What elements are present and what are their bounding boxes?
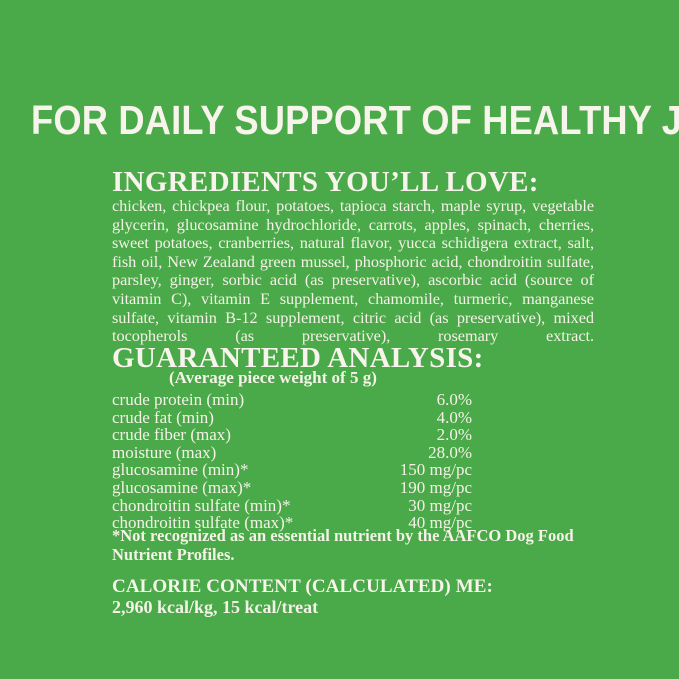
ingredients-list-text: chicken, chickpea flour, potatoes, tapio…	[112, 197, 594, 364]
ingredients-section: chicken, chickpea flour, potatoes, tapio…	[112, 197, 594, 364]
calorie-content-section: CALORIE CONTENT (CALCULATED) ME: 2,960 k…	[112, 576, 582, 618]
guaranteed-analysis-subheading: (Average piece weight of 5 g)	[169, 368, 377, 388]
nutrient-label: crude protein (min)	[112, 391, 369, 409]
nutrient-label: crude fat (min)	[112, 409, 369, 427]
nutrient-value: 4.0%	[369, 409, 472, 427]
table-row: glucosamine (max)* 190 mg/pc	[112, 479, 472, 497]
nutrient-label: moisture (max)	[112, 444, 369, 462]
nutrient-label: chondroitin sulfate (min)*	[112, 497, 369, 515]
nutrient-label: glucosamine (min)*	[112, 461, 369, 479]
aafco-footnote: *Not recognized as an essential nutrient…	[112, 526, 582, 564]
nutrient-label: glucosamine (max)*	[112, 479, 369, 497]
nutrient-value: 150 mg/pc	[369, 461, 472, 479]
table-row: chondroitin sulfate (min)* 30 mg/pc	[112, 497, 472, 515]
table-row: crude fiber (max) 2.0%	[112, 426, 472, 444]
page-title: FOR DAILY SUPPORT OF HEALTHY JOINT FUNCT…	[31, 99, 580, 141]
guaranteed-analysis-table: crude protein (min) 6.0% crude fat (min)…	[112, 391, 472, 532]
nutrient-label: crude fiber (max)	[112, 426, 369, 444]
nutrient-value: 6.0%	[369, 391, 472, 409]
guaranteed-analysis-rows: crude protein (min) 6.0% crude fat (min)…	[112, 391, 472, 532]
table-row: moisture (max) 28.0%	[112, 444, 472, 462]
table-row: crude fat (min) 4.0%	[112, 409, 472, 427]
ingredients-heading: INGREDIENTS YOU’LL LOVE:	[112, 167, 594, 198]
calorie-content-heading: CALORIE CONTENT (CALCULATED) ME:	[112, 576, 582, 597]
nutrient-value: 190 mg/pc	[369, 479, 472, 497]
table-row: glucosamine (min)* 150 mg/pc	[112, 461, 472, 479]
nutrient-value: 30 mg/pc	[369, 497, 472, 515]
table-row: crude protein (min) 6.0%	[112, 391, 472, 409]
product-label-panel: FOR DAILY SUPPORT OF HEALTHY JOINT FUNCT…	[0, 0, 679, 679]
calorie-content-value: 2,960 kcal/kg, 15 kcal/treat	[112, 597, 582, 618]
nutrient-value: 2.0%	[369, 426, 472, 444]
nutrient-value: 28.0%	[369, 444, 472, 462]
